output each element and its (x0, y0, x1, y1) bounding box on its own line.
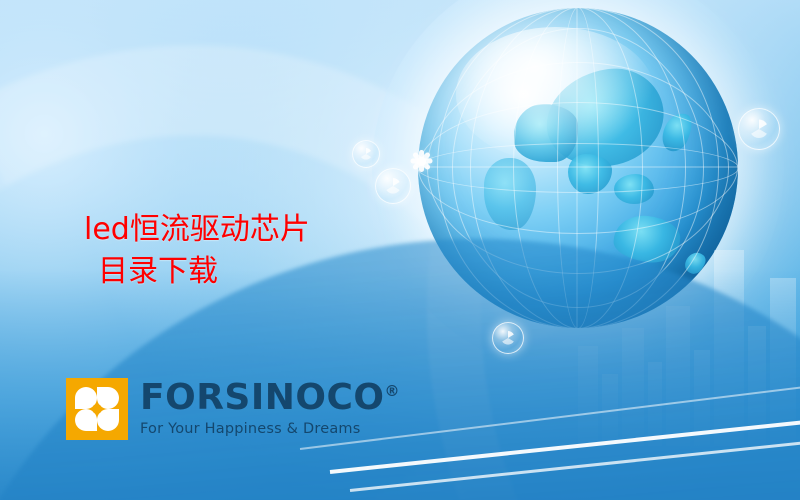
headline-line-1: led恒流驱动芯片 (84, 212, 310, 247)
globe-highlight (456, 27, 654, 161)
bubble-small-left (352, 140, 380, 168)
bubble-small-lower (492, 322, 524, 354)
brand-name: FORSINOCO® (140, 380, 400, 416)
brand-tagline: For Your Happiness & Dreams (140, 421, 400, 437)
brand-logo: FORSINOCO® For Your Happiness & Dreams (66, 378, 400, 440)
headline-line-2: 目录下载 (84, 251, 414, 294)
brand-name-text: FORSINOCO (140, 377, 385, 418)
pinwheel-icon (750, 120, 769, 139)
pinwheel-icon (360, 148, 372, 160)
logo-text-block: FORSINOCO® For Your Happiness & Dreams (140, 378, 400, 437)
bubble-large-right (738, 108, 780, 150)
registered-trademark-icon: ® (385, 382, 401, 400)
page-title: led恒流驱动芯片 目录下载 (84, 166, 414, 336)
four-petal-flower-mark-icon (66, 378, 128, 440)
pinwheel-icon (501, 331, 515, 345)
slide-canvas: led恒流驱动芯片 目录下载 FORSINOCO® For Your Happi… (0, 0, 800, 500)
